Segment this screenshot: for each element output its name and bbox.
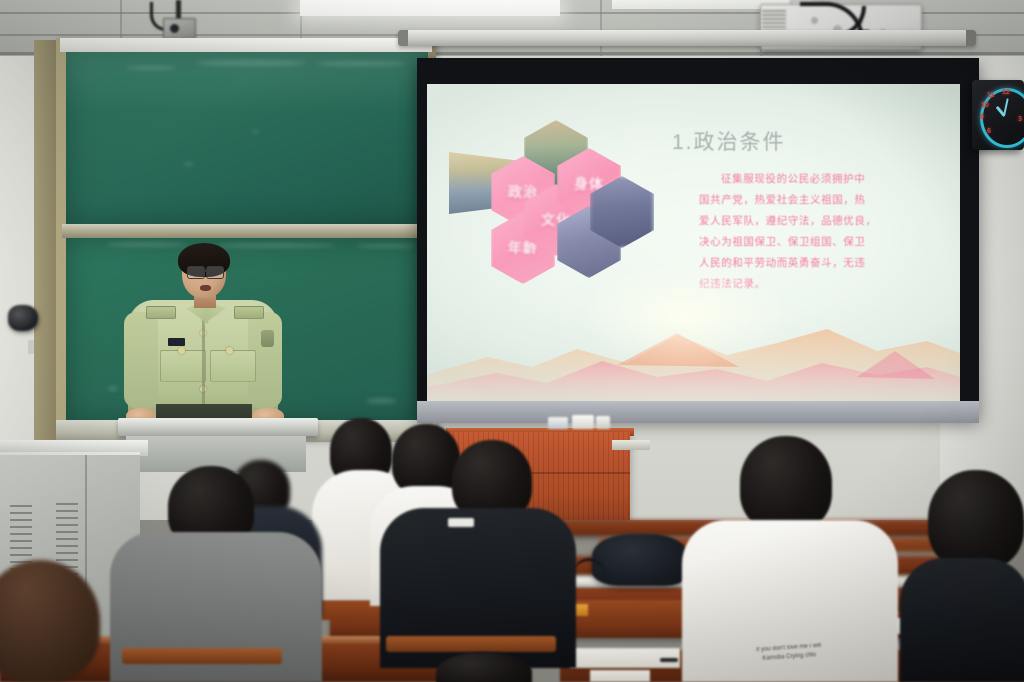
slide-heading: 1.政治条件 [672,126,786,156]
student-head [740,436,832,532]
screen-roller-cap [398,30,408,46]
eyeglasses-bridge [202,270,207,272]
chair-backrest [386,636,556,652]
clock-numeral: 10 [981,102,989,109]
instructor-shoulder-patch [261,330,274,347]
clock-numeral: 12 [1002,89,1010,96]
clock-numeral: 9 [980,114,984,121]
blackboard-left-post [34,40,56,440]
slide-body-line: 爱人民军队，遵纪守法，品德优良， [699,211,914,232]
slide-body-line: 国共产党，热爱社会主义祖国，热 [699,190,914,211]
pen-icon[interactable] [660,658,678,662]
desk-item-box[interactable] [548,417,568,429]
instructor-mouth [200,285,211,291]
student-dark-right [900,558,1024,682]
desk-item-box[interactable] [596,416,610,429]
instructor-button [226,347,233,354]
clock-numeral: 11 [987,92,994,99]
slide-body-line: 决心为祖国保卫、保卫组国、保卫 [699,232,914,253]
instructor-arm-left [124,312,158,408]
instructor-pocket-right [210,350,256,382]
screen-roller-cap [966,30,976,46]
instructor-pocket-left [160,350,206,382]
wall-clock: 12 11 10 9 6 3 [972,80,1024,150]
shirt-collar-tag [448,518,474,527]
instructor-epaulet [146,306,176,319]
speaker-icon [8,305,38,331]
slide-body-line: 人民的和平劳动而英勇奋斗，无违 [699,253,914,274]
wood-cabinet-shelf [612,440,650,450]
slide-mountain-decoration [427,305,960,401]
chair-backrest [122,648,282,664]
instructor-button [178,347,185,354]
student-head [928,470,1024,570]
desk-item-box[interactable] [572,415,594,429]
clock-numeral: 3 [1018,116,1022,123]
paper-sheet[interactable] [590,670,650,682]
slide-body-text: 征集服现役的公民必须拥护中 国共产党，热爱社会主义祖国，热 爱人民军队，遵纪守法… [699,169,914,295]
backpack[interactable] [592,534,688,586]
eyeglasses-icon [187,266,205,279]
eyeglasses-icon [206,266,224,279]
slide-body-line: 纪违法记录。 [699,274,914,295]
instructor-name-badge [168,338,185,346]
ceiling-light [300,0,560,16]
left-wall [0,56,36,466]
blackboard-upper-panel [66,52,428,224]
screen-roller-bar[interactable] [398,30,976,46]
screen-bottom-bar [417,401,979,423]
lectern-top [118,418,318,436]
slide-body-line: 征集服现役的公民必须拥护中 [699,169,914,190]
instructor-epaulet [234,306,264,319]
clock-numeral: 6 [987,128,991,135]
camera-lens-icon [170,24,179,33]
wall-bracket [28,340,34,354]
blackboard-top-trim [60,38,432,52]
blackboard-chalk-ledge [62,224,432,238]
ceiling-tile-seam-v [600,0,602,56]
classroom-photo: 政治 年龄 文化 身体 1.政治条件 征集服现役的公民必须拥护中 国共产党，热爱… [0,0,1024,682]
projection-screen: 政治 年龄 文化 身体 1.政治条件 征集服现役的公民必须拥护中 国共产党，热爱… [427,84,960,401]
tshirt-print: If you don't love me I will Kamsba Cryin… [733,644,845,662]
